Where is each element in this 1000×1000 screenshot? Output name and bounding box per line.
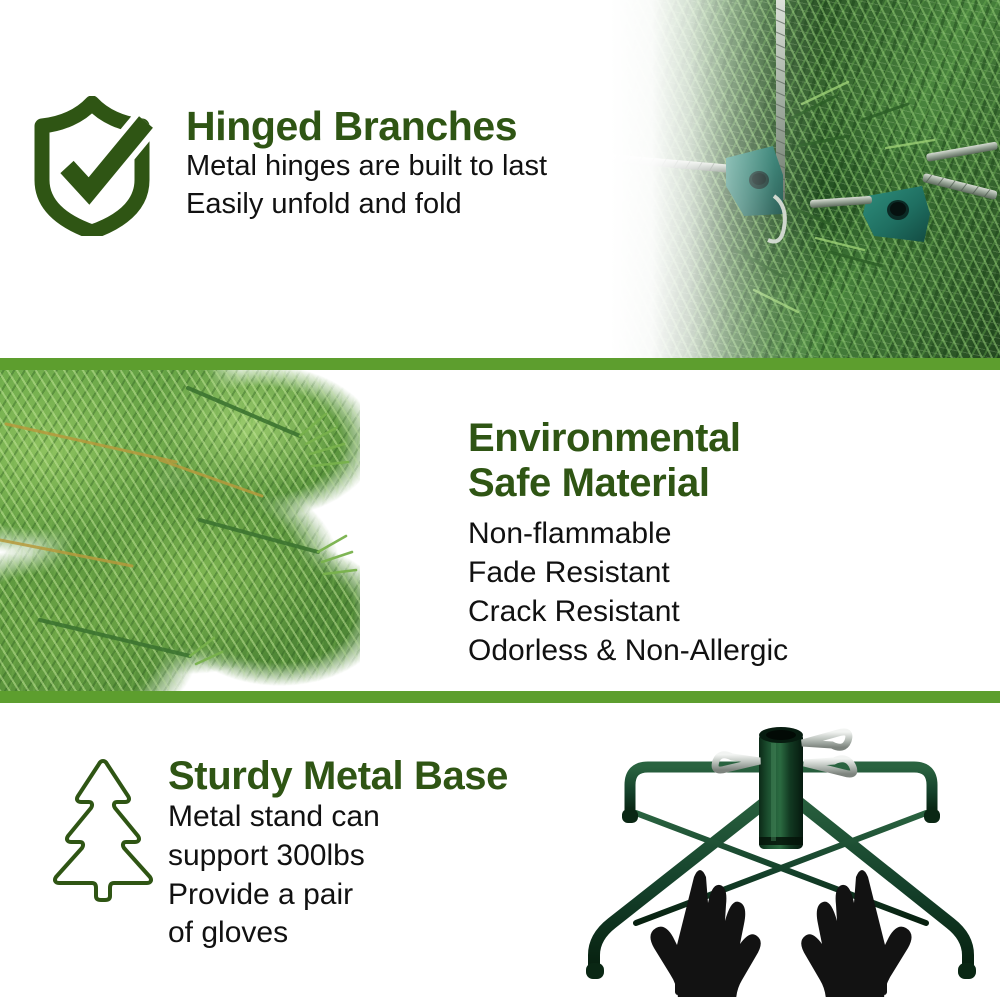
christmas-tree-outline-icon xyxy=(44,753,162,903)
feature-panel-sturdy-metal-base: Sturdy Metal Base Metal stand can suppor… xyxy=(0,703,1000,1000)
panel-1-text-block: Hinged Branches Metal hinges are built t… xyxy=(186,104,616,224)
shield-check-icon-svg xyxy=(34,96,162,236)
metal-stand-gloves-svg xyxy=(576,717,986,997)
divider-bar-1 xyxy=(0,358,1000,370)
panel-2-text-block: Environmental Safe Material Non-flammabl… xyxy=(468,416,888,670)
glove-left xyxy=(650,870,760,997)
panel-2-body: Non-flammable Fade Resistant Crack Resis… xyxy=(468,514,888,670)
metal-stand-gloves-photo xyxy=(576,717,986,997)
panel-1-title: Hinged Branches xyxy=(186,104,616,148)
feature-panel-environmental-safe-material: Environmental Safe Material Non-flammabl… xyxy=(0,370,1000,691)
pine-branch-stems xyxy=(0,370,368,691)
pine-branches-photo xyxy=(0,370,368,691)
panel-2-title: Environmental Safe Material xyxy=(468,416,888,506)
christmas-tree-outline-icon-svg xyxy=(44,753,162,903)
divider-bar-2 xyxy=(0,691,1000,703)
shield-check-icon xyxy=(34,96,162,236)
stand-center-tube xyxy=(759,727,803,849)
feature-panel-hinged-branches: Hinged Branches Metal hinges are built t… xyxy=(0,0,1000,358)
panel-3-body: Metal stand can support 300lbs Provide a… xyxy=(168,798,588,953)
panel-1-body: Metal hinges are built to last Easily un… xyxy=(186,148,616,223)
panel-3-title: Sturdy Metal Base xyxy=(168,755,588,798)
infographic-page: Hinged Branches Metal hinges are built t… xyxy=(0,0,1000,1000)
panel-3-text-block: Sturdy Metal Base Metal stand can suppor… xyxy=(168,755,588,953)
glove-right xyxy=(801,870,911,997)
gloves-pair xyxy=(650,870,911,997)
